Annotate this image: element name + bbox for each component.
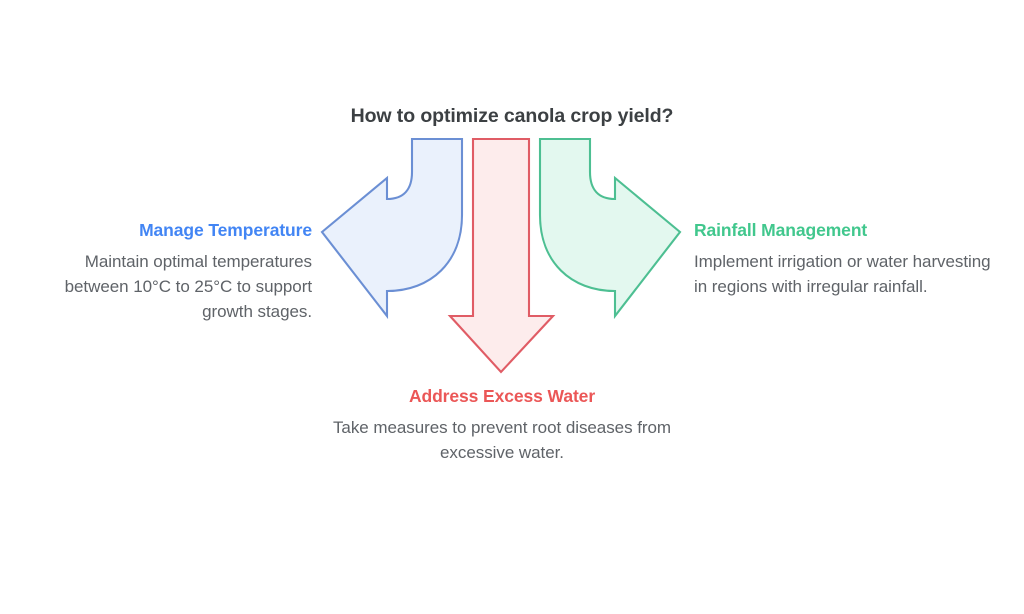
curved-arrow-right-icon: [540, 139, 680, 316]
branch-heading-address-excess-water: Address Excess Water: [332, 385, 672, 408]
branch-address-excess-water: Address Excess Water Take measures to pr…: [332, 385, 672, 465]
branch-heading-manage-temperature: Manage Temperature: [20, 219, 312, 242]
branch-body-address-excess-water: Take measures to prevent root diseases f…: [332, 415, 672, 465]
branch-rainfall-management: Rainfall Management Implement irrigation…: [694, 219, 994, 299]
arrow-down-icon: [450, 139, 553, 372]
branch-heading-rainfall-management: Rainfall Management: [694, 219, 994, 242]
curved-arrow-left-icon: [322, 139, 462, 316]
diagram-canvas: How to optimize canola crop yield? Manag…: [0, 0, 1024, 614]
branch-body-manage-temperature: Maintain optimal temperatures between 10…: [20, 249, 312, 324]
page-title: How to optimize canola crop yield?: [262, 104, 762, 128]
branch-manage-temperature: Manage Temperature Maintain optimal temp…: [20, 219, 312, 324]
branch-body-rainfall-management: Implement irrigation or water harvesting…: [694, 249, 994, 299]
